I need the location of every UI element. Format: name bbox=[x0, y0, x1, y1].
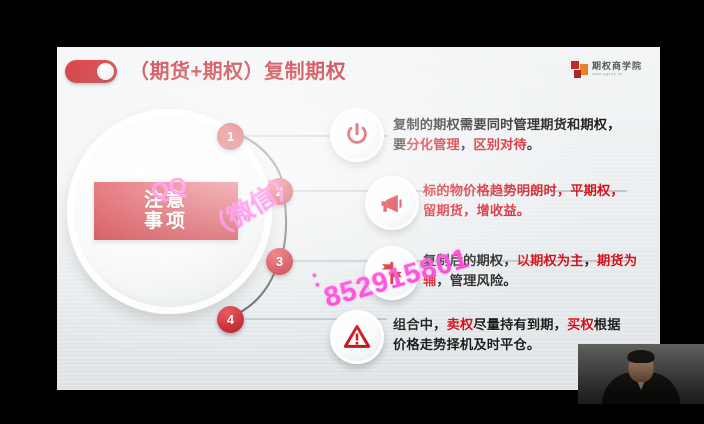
hub-label-line1: 注意 bbox=[144, 190, 188, 211]
step-badge-1[interactable]: 1 bbox=[217, 123, 244, 150]
brand-logo: 期权商学院 www.qqsxy.cn bbox=[571, 61, 642, 78]
hub-label-box: 注意 事项 bbox=[94, 182, 238, 240]
icon-disc-3 bbox=[365, 246, 419, 300]
hub-label-line2: 事项 bbox=[144, 211, 188, 232]
icon-disc-2 bbox=[365, 176, 419, 230]
icon-disc-4 bbox=[330, 310, 384, 364]
logo-url: www.qqsxy.cn bbox=[592, 73, 642, 77]
signpost-icon bbox=[378, 259, 406, 287]
power-icon bbox=[343, 121, 371, 149]
step-text-2: 标的物价格趋势明朗时，平期权，留期货，增收益。 bbox=[423, 181, 628, 221]
presentation-slide: （期货+期权）复制期权 期权商学院 www.qqsxy.cn bbox=[57, 47, 660, 390]
step-badge-3[interactable]: 3 bbox=[266, 248, 293, 275]
watermark-colon: ： bbox=[306, 260, 334, 294]
step-text-3: 复制后的期权，以期权为主，期货为辅，管理风险。 bbox=[423, 251, 638, 291]
toggle-pill-icon bbox=[65, 60, 117, 83]
screen-root: （期货+期权）复制期权 期权商学院 www.qqsxy.cn bbox=[0, 0, 704, 424]
logo-name: 期权商学院 bbox=[592, 62, 642, 71]
step-text-1: 复制的期权需要同时管理期货和期权，要分化管理，区别对待。 bbox=[393, 115, 628, 155]
page-title: （期货+期权）复制期权 bbox=[129, 55, 346, 84]
megaphone-icon bbox=[378, 189, 406, 217]
warning-triangle-icon bbox=[343, 323, 371, 351]
step-badge-4[interactable]: 4 bbox=[217, 306, 244, 333]
slide-header: （期货+期权）复制期权 期权商学院 www.qqsxy.cn bbox=[57, 47, 660, 95]
logo-mark-icon bbox=[571, 61, 588, 78]
toggle-knob bbox=[97, 63, 114, 80]
video-vignette bbox=[578, 344, 704, 404]
icon-disc-1 bbox=[330, 108, 384, 162]
presenter-video-overlay[interactable] bbox=[578, 344, 704, 404]
step-badge-2[interactable]: 2 bbox=[266, 178, 293, 205]
